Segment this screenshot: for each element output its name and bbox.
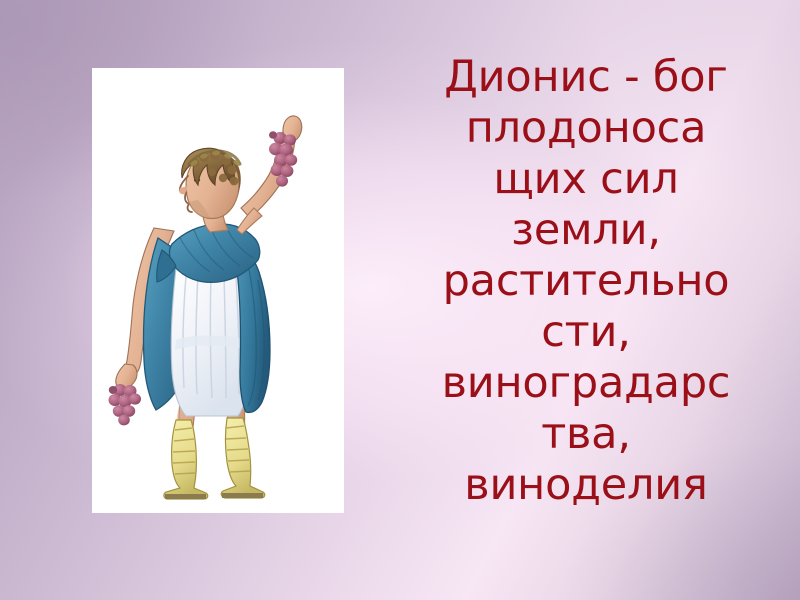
title-line: щих сил xyxy=(372,154,800,205)
title-line: сти, xyxy=(372,307,800,358)
picture-frame xyxy=(92,68,344,513)
title-line: растительно xyxy=(372,256,800,307)
title-line: земли, xyxy=(372,205,800,256)
title-line: виноделия xyxy=(372,460,800,511)
dionysus-illustration xyxy=(92,68,344,513)
page-title: Дионис - бог плодоноса щих сил земли, ра… xyxy=(372,52,800,511)
title-line: виноградарс xyxy=(372,358,800,409)
title-line: плодоноса xyxy=(372,103,800,154)
title-line: тва, xyxy=(372,409,800,460)
slide-canvas: Дионис - бог плодоноса щих сил земли, ра… xyxy=(0,0,800,600)
title-line: Дионис - бог xyxy=(372,52,800,103)
